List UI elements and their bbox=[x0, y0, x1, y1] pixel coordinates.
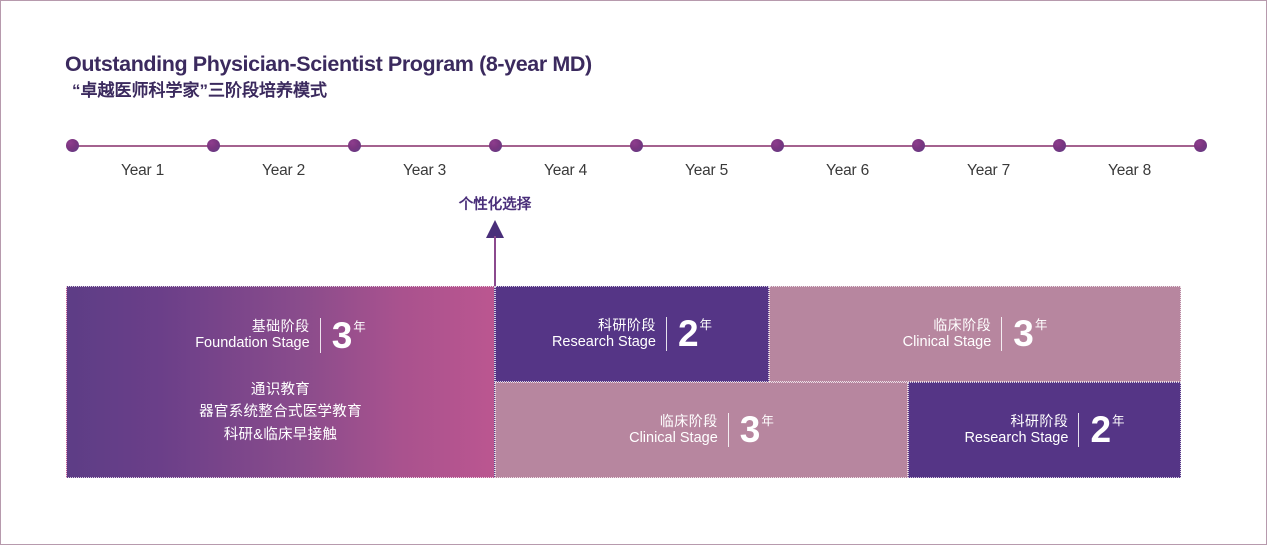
stage-duration-value: 3 bbox=[332, 319, 352, 352]
stage-duration-unit: 年 bbox=[353, 321, 366, 334]
stage-name-cn: 临床阶段 bbox=[629, 413, 718, 430]
stage-names: 临床阶段 Clinical Stage bbox=[629, 413, 729, 448]
stage-duration-unit: 年 bbox=[1112, 415, 1125, 428]
stage-duration-value: 2 bbox=[1090, 413, 1110, 446]
stage-block-clinical-path-b[interactable]: 临床阶段 Clinical Stage 3 年 bbox=[495, 382, 908, 478]
stage-names: 科研阶段 Research Stage bbox=[552, 317, 667, 352]
personalized-choice-callout: 个性化选择 bbox=[1, 1, 1267, 291]
stage-header: 基础阶段 Foundation Stage 3 年 bbox=[195, 318, 366, 353]
stage-block-research-path-b[interactable]: 科研阶段 Research Stage 2 年 bbox=[908, 382, 1181, 478]
stage-duration: 2 年 bbox=[1079, 413, 1124, 446]
stage-detail-line: 科研&临床早接触 bbox=[199, 424, 362, 446]
personalized-choice-label: 个性化选择 bbox=[459, 193, 532, 214]
stage-duration-unit: 年 bbox=[761, 415, 774, 428]
stage-header: 临床阶段 Clinical Stage 3 年 bbox=[903, 317, 1048, 352]
stage-duration-value: 2 bbox=[678, 317, 698, 350]
stage-name-cn: 科研阶段 bbox=[552, 317, 656, 334]
stage-names: 临床阶段 Clinical Stage bbox=[903, 317, 1003, 352]
stage-name-en: Clinical Stage bbox=[629, 430, 718, 448]
stage-duration: 3 年 bbox=[729, 413, 774, 446]
stage-name-en: Foundation Stage bbox=[195, 335, 309, 353]
stage-name-en: Research Stage bbox=[552, 334, 656, 352]
stage-names: 基础阶段 Foundation Stage bbox=[195, 318, 320, 353]
stage-detail-line: 通识教育 bbox=[199, 379, 362, 401]
stage-duration-unit: 年 bbox=[1035, 319, 1048, 332]
infographic-page: Outstanding Physician-Scientist Program … bbox=[0, 0, 1267, 545]
stage-duration-value: 3 bbox=[1013, 317, 1033, 350]
stage-details: 通识教育 器官系统整合式医学教育 科研&临床早接触 bbox=[199, 379, 362, 446]
stage-duration-value: 3 bbox=[740, 413, 760, 446]
stage-name-en: Clinical Stage bbox=[903, 334, 992, 352]
stage-duration: 3 年 bbox=[321, 319, 366, 352]
stage-name-cn: 基础阶段 bbox=[195, 318, 309, 335]
stage-block-research-path-a[interactable]: 科研阶段 Research Stage 2 年 bbox=[495, 286, 769, 382]
stage-block-foundation[interactable]: 基础阶段 Foundation Stage 3 年 通识教育 器官系统整合式医学… bbox=[66, 286, 495, 478]
stage-name-cn: 科研阶段 bbox=[964, 413, 1068, 430]
stage-name-cn: 临床阶段 bbox=[903, 317, 992, 334]
stage-header: 科研阶段 Research Stage 2 年 bbox=[552, 317, 712, 352]
stage-duration: 3 年 bbox=[1002, 317, 1047, 350]
stage-detail-line: 器官系统整合式医学教育 bbox=[199, 401, 362, 423]
stage-duration-unit: 年 bbox=[700, 319, 713, 332]
stage-chart: 基础阶段 Foundation Stage 3 年 通识教育 器官系统整合式医学… bbox=[66, 286, 1181, 478]
stage-duration: 2 年 bbox=[667, 317, 712, 350]
stage-name-en: Research Stage bbox=[964, 430, 1068, 448]
stage-header: 临床阶段 Clinical Stage 3 年 bbox=[629, 413, 774, 448]
callout-stem bbox=[494, 236, 496, 288]
stage-block-clinical-path-a[interactable]: 临床阶段 Clinical Stage 3 年 bbox=[769, 286, 1181, 382]
stage-names: 科研阶段 Research Stage bbox=[964, 413, 1079, 448]
stage-header: 科研阶段 Research Stage 2 年 bbox=[964, 413, 1124, 448]
